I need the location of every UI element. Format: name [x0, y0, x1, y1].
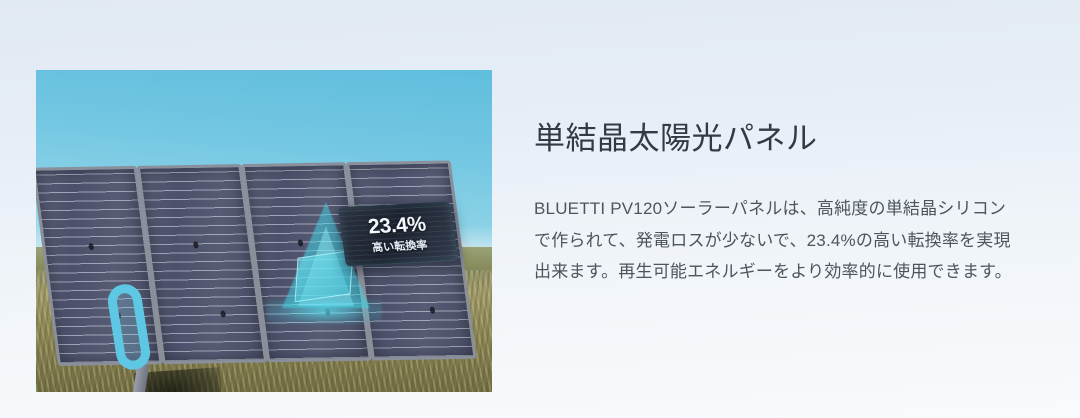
product-feature-section: 23.4% 高い転換率 単結晶太陽光パネル BLUETTI PV120ソーラーパ… [0, 0, 1080, 418]
panel-detail-dot [220, 310, 226, 317]
efficiency-stat-card: 23.4% 高い転換率 [338, 201, 459, 266]
copy-block: 単結晶太陽光パネル BLUETTI PV120ソーラーパネルは、高純度の単結晶シ… [534, 122, 1024, 287]
efficiency-label: 高い転換率 [371, 236, 428, 255]
panel-detail-dot [88, 243, 94, 250]
panel-detail-dot [193, 241, 199, 248]
efficiency-value: 23.4% [367, 213, 427, 237]
product-photo: 23.4% 高い転換率 [36, 70, 492, 392]
section-heading: 単結晶太陽光パネル [534, 122, 1024, 156]
panel-detail-dot [429, 306, 435, 313]
section-body-text: BLUETTI PV120ソーラーパネルは、高純度の単結晶シリコンで作られて、発… [534, 193, 1017, 287]
beam-glow [266, 298, 382, 324]
